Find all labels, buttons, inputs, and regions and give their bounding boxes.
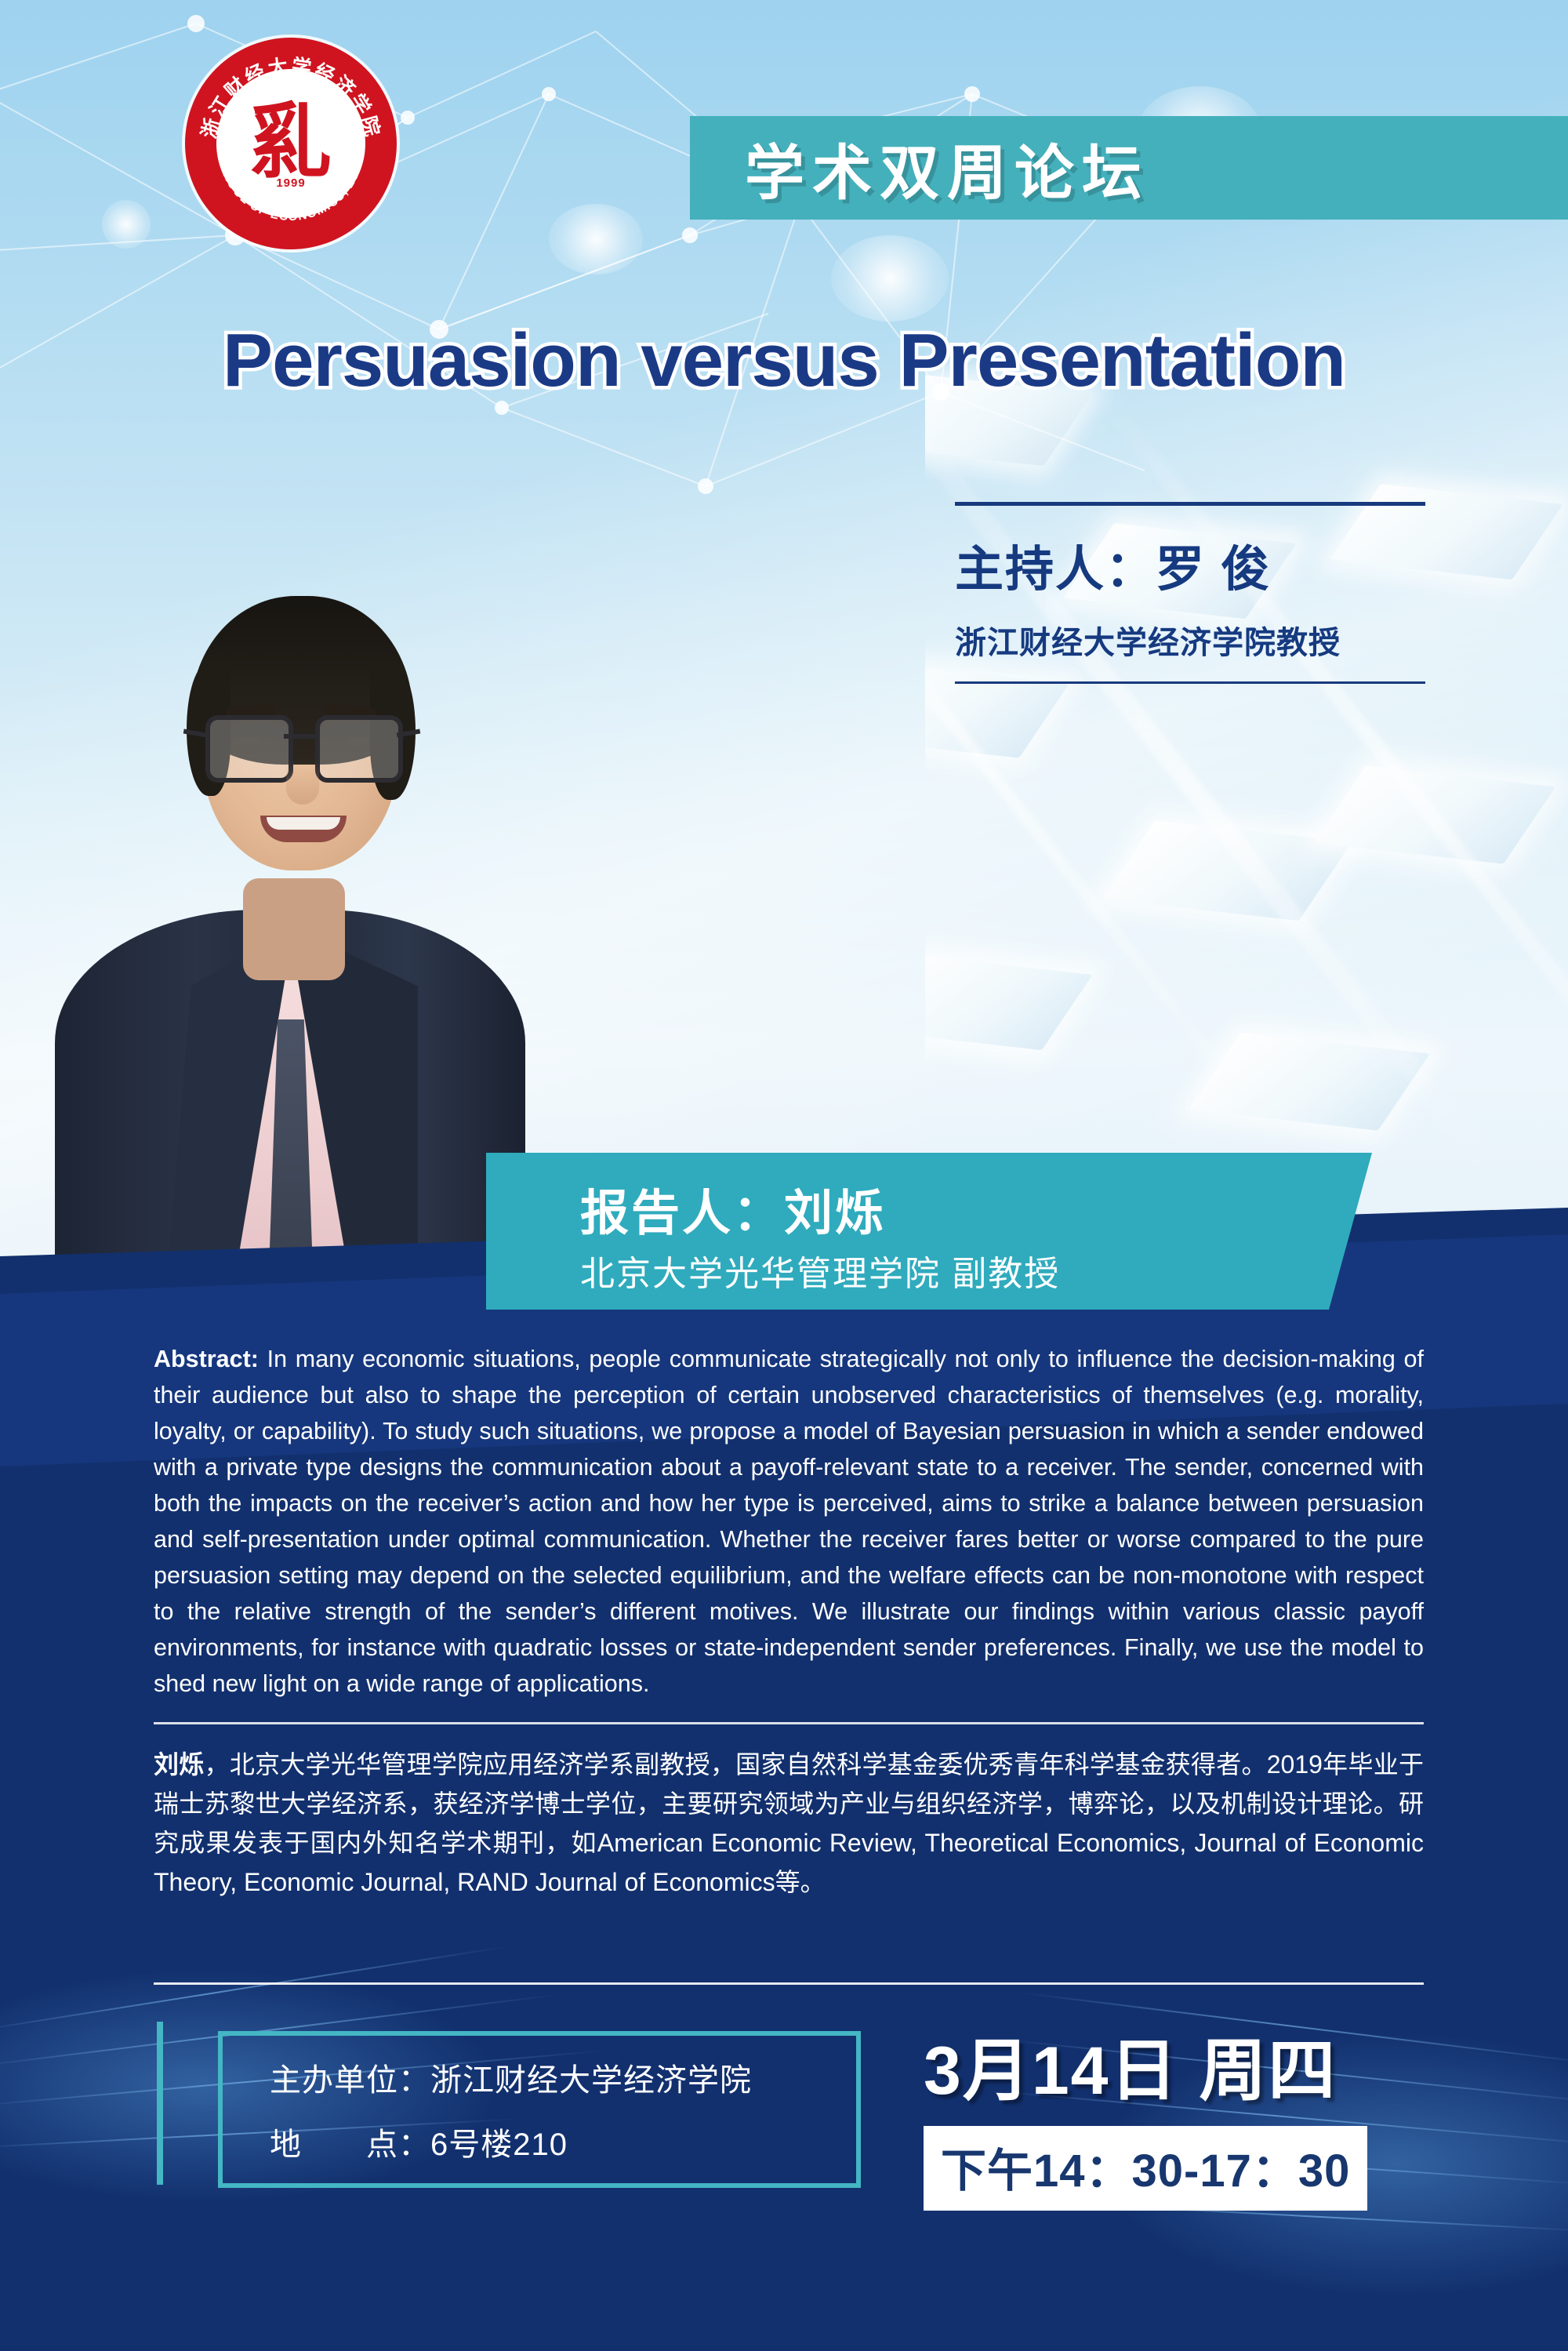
- host-name: 主持人：罗 俊: [955, 529, 1441, 600]
- portrait-neck: [243, 878, 345, 980]
- bio-paragraph: 刘烁，北京大学光华管理学院应用经济学系副教授，国家自然科学基金委优秀青年科学基金…: [154, 1745, 1424, 1902]
- footer-accent-bar: [157, 2022, 163, 2185]
- footer-divider-rule: [154, 1982, 1424, 1985]
- host-affiliation: 浙江财经大学经济学院教授: [955, 617, 1441, 663]
- speaker-portrait: [8, 471, 572, 1263]
- glasses-lens-right: [315, 715, 403, 783]
- logo-founding-year: 1999: [216, 176, 365, 190]
- host-rule-bottom: [955, 681, 1425, 684]
- speaker-name: 报告人：刘烁: [580, 1173, 886, 1244]
- logo-inner-disc: 乿 1999: [216, 69, 365, 218]
- background-glow-dot: [831, 235, 949, 322]
- abstract-text: In many economic situations, people comm…: [154, 1346, 1424, 1697]
- university-logo: 浙江财经大学经济学院 SCHOOL OF ECONOMICS, ZUFE 乿 1…: [185, 38, 397, 249]
- background-glow-dot: [102, 200, 151, 249]
- seminar-poster: 浙江财经大学经济学院 SCHOOL OF ECONOMICS, ZUFE 乿 1…: [0, 0, 1568, 2351]
- organizer-line: 主办单位：浙江财经大学经济学院: [270, 2055, 856, 2100]
- speaker-banner: 报告人：刘烁 北京大学光华管理学院 副教授: [486, 1153, 1372, 1310]
- page-title: Persuasion versus Presentation: [0, 318, 1568, 404]
- bio-text: ，北京大学光华管理学院应用经济学系副教授，国家自然科学基金委优秀青年科学基金获得…: [154, 1750, 1424, 1896]
- abstract-paragraph: Abstract: In many economic situations, p…: [154, 1341, 1424, 1702]
- forum-banner: 学术双周论坛: [690, 116, 1568, 220]
- background-glow-dot: [549, 204, 643, 274]
- portrait-nose: [286, 761, 319, 805]
- logo-seal-glyph: 乿: [250, 101, 332, 183]
- speaker-affiliation: 北京大学光华管理学院 副教授: [580, 1245, 1060, 1295]
- bio-name: 刘烁: [154, 1750, 205, 1779]
- portrait-teeth: [267, 817, 340, 830]
- host-block: 主持人：罗 俊 浙江财经大学经济学院教授: [955, 502, 1441, 684]
- event-date: 3月14日 周四: [924, 2015, 1441, 2113]
- content-body: Abstract: In many economic situations, p…: [154, 1341, 1424, 1902]
- date-time-block: 3月14日 周四 下午14：30-17：30: [924, 2015, 1441, 2211]
- venue-line: 地 点：6号楼210: [270, 2119, 856, 2164]
- glasses-lens-left: [205, 715, 293, 783]
- abstract-label: Abstract:: [154, 1346, 259, 1372]
- event-time: 下午14：30-17：30: [924, 2126, 1367, 2211]
- host-rule-top: [955, 502, 1425, 506]
- glasses-bridge: [284, 734, 315, 739]
- forum-banner-title: 学术双周论坛: [745, 125, 1149, 211]
- portrait-mouth: [260, 816, 347, 842]
- divider-rule: [154, 1722, 1424, 1724]
- organizer-box: 主办单位：浙江财经大学经济学院 地 点：6号楼210: [218, 2031, 861, 2188]
